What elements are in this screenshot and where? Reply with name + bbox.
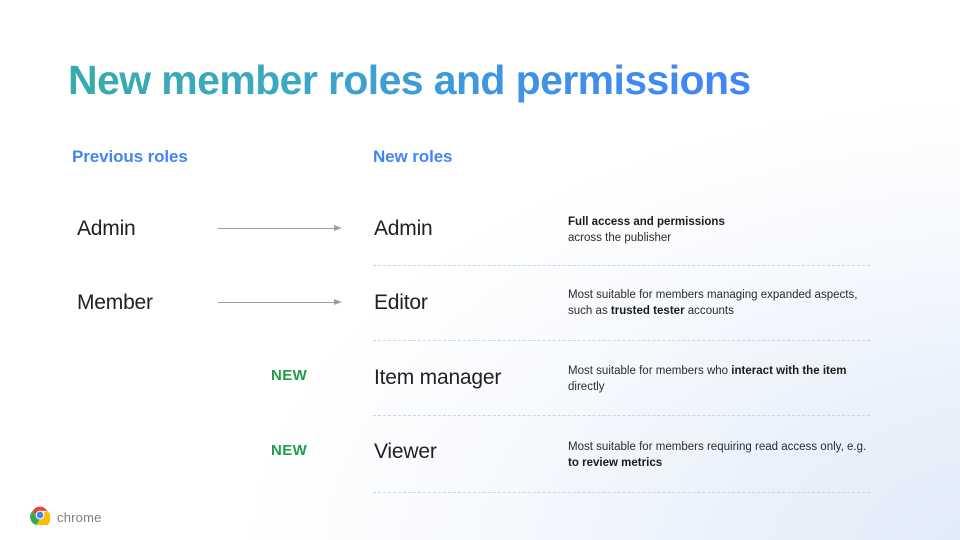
new-badge-item-manager: NEW — [271, 367, 307, 384]
new-role-editor-description: Most suitable for members managing expan… — [568, 287, 868, 319]
row-divider — [373, 415, 870, 416]
arrow-shaft — [218, 228, 334, 229]
new-role-admin: Admin — [374, 217, 433, 241]
description-bold: trusted tester — [611, 305, 685, 317]
slide-canvas: New member roles and permissions Previou… — [0, 0, 960, 540]
column-header-previous-roles: Previous roles — [72, 147, 188, 167]
description-bold: interact with the item — [731, 365, 846, 377]
row-divider — [373, 492, 870, 493]
description-pre: Most suitable for members requiring read… — [568, 441, 866, 453]
chrome-icon — [30, 505, 50, 530]
new-role-editor: Editor — [374, 291, 428, 315]
description-post: accounts — [685, 305, 734, 317]
arrow-head-icon — [334, 299, 342, 305]
new-role-item-manager: Item manager — [374, 366, 501, 390]
description-rest: across the publisher — [568, 232, 671, 244]
description-pre: Most suitable for members who — [568, 365, 731, 377]
column-header-new-roles: New roles — [373, 147, 452, 167]
new-role-admin-description: Full access and permissions across the p… — [568, 214, 868, 246]
previous-role-admin: Admin — [77, 217, 136, 241]
new-role-item-manager-description: Most suitable for members who interact w… — [568, 363, 868, 395]
description-bold: to review metrics — [568, 457, 662, 469]
new-role-viewer-description: Most suitable for members requiring read… — [568, 439, 868, 471]
arrow-admin-to-admin — [218, 224, 342, 234]
row-divider — [373, 340, 870, 341]
arrow-head-icon — [334, 225, 342, 231]
chrome-wordmark: chrome — [57, 510, 102, 525]
row-divider — [373, 265, 870, 266]
previous-role-member: Member — [77, 291, 153, 315]
description-post: directly — [568, 381, 605, 393]
arrow-shaft — [218, 302, 334, 303]
arrow-member-to-editor — [218, 298, 342, 308]
new-role-viewer: Viewer — [374, 440, 437, 464]
description-bold-lead: Full access and permissions — [568, 216, 725, 228]
page-title: New member roles and permissions — [68, 54, 898, 106]
new-badge-viewer: NEW — [271, 442, 307, 459]
chrome-brand-logo: chrome — [30, 505, 102, 530]
